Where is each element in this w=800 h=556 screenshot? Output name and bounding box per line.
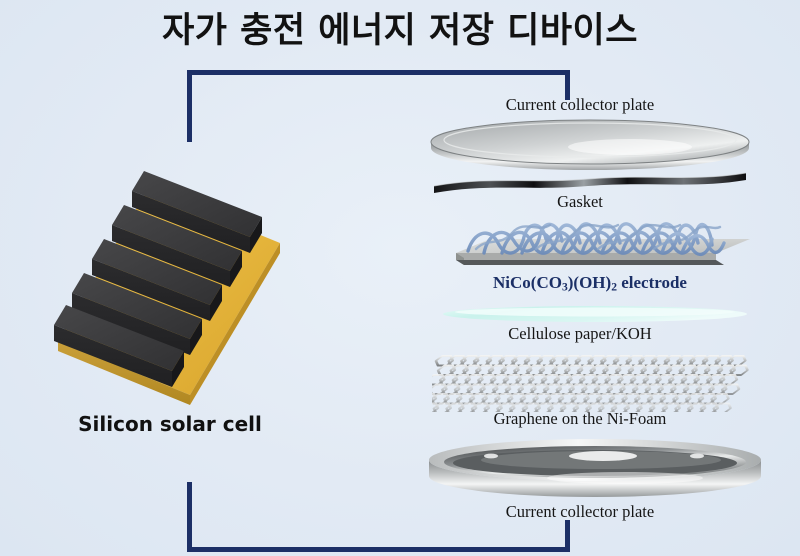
gasket-art [430,170,750,200]
current-collector-top-label: Current collector plate [380,95,780,115]
current-collector-bottom-art [425,436,765,502]
nico-formula-prefix: NiCo(CO [493,273,562,292]
bracket-bottom-horizontal [187,547,570,552]
nico-formula-suffix: electrode [617,273,687,292]
graphene-ni-foam-art [432,352,758,412]
bracket-top-left-vertical [187,70,192,142]
bracket-top-horizontal [187,70,570,75]
current-collector-bottom-label: Current collector plate [380,502,780,522]
page-title: 자가 충전 에너지 저장 디바이스 [0,2,800,53]
graphene-ni-foam-label: Graphene on the Ni-Foam [360,409,800,429]
cellulose-paper-art [440,303,750,329]
nico-electrode-label: NiCo(CO3)(OH)2 electrode [340,273,800,294]
silicon-solar-cell-illustration [40,165,330,405]
current-collector-top-art [425,118,755,176]
nico-formula-mid: )(OH) [568,273,611,292]
bracket-bottom-right-vertical [565,520,570,552]
bracket-bottom-left-vertical [187,482,192,552]
nico-electrode-art [428,203,758,275]
figure-canvas: 자가 충전 에너지 저장 디바이스 [0,0,800,556]
silicon-solar-cell-label: Silicon solar cell [20,412,320,436]
